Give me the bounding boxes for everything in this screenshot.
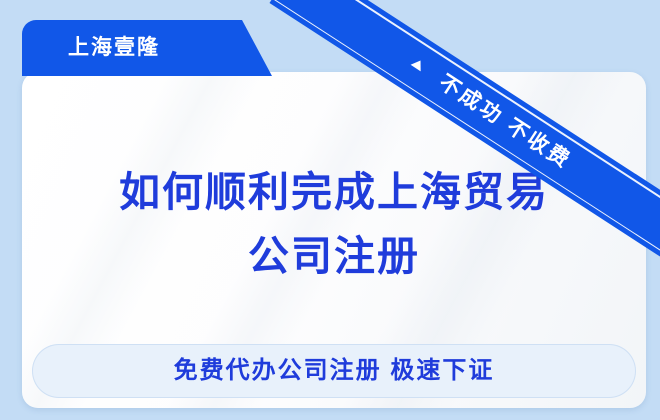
promo-banner: 上海壹隆 如何顺利完成上海贸易 公司注册 免费代办公司注册 极速下证 不成功 不…: [0, 0, 660, 420]
footer-pill[interactable]: 免费代办公司注册 极速下证: [32, 344, 636, 398]
headline-line-2: 公司注册: [22, 224, 646, 288]
footer-pill-label: 免费代办公司注册 极速下证: [32, 344, 636, 398]
triangle-up-icon: [411, 57, 426, 71]
brand-tab[interactable]: 上海壹隆: [22, 20, 272, 76]
brand-tab-label: 上海壹隆: [68, 31, 160, 61]
